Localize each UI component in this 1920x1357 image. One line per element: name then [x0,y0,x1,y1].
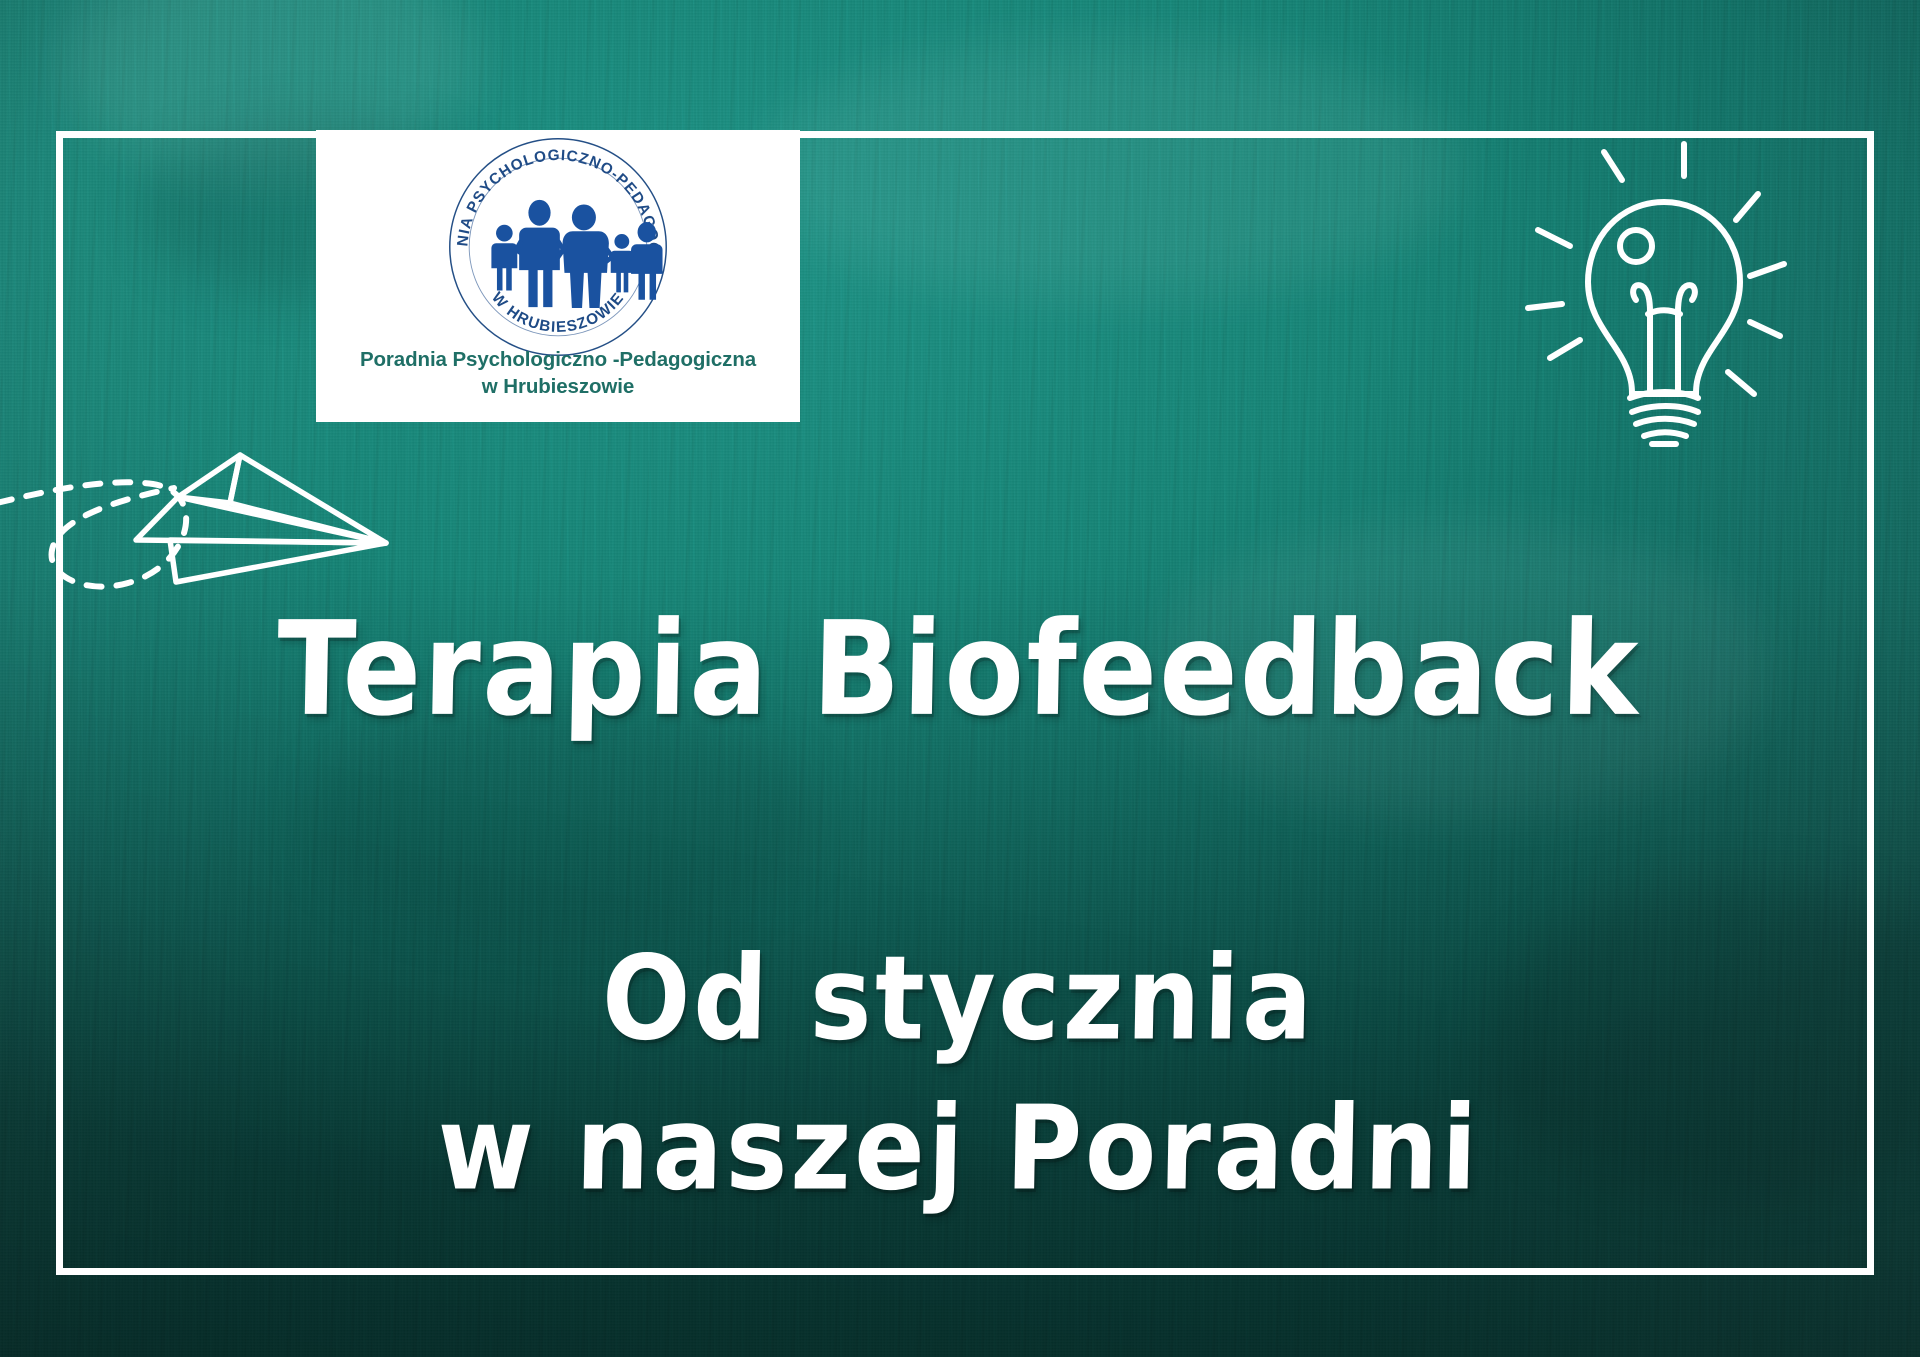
logo-caption-line-1: Poradnia Psychologiczno -Pedagogiczna [360,346,756,373]
poster-subtitle-line-1: Od stycznia [0,930,1920,1067]
logo-caption-line-2: w Hrubieszowie [360,373,756,400]
poster-subtitle-line-2: w naszej Poradni [0,1080,1920,1217]
poster-canvas: PORADNIA PSYCHOLOGICZNO-PEDAGOGICZNA W H… [0,0,1920,1357]
paper-plane-icon [0,440,408,620]
organization-logo-card: PORADNIA PSYCHOLOGICZNO-PEDAGOGICZNA W H… [316,130,800,422]
poster-headline: Terapia Biofeedback [0,594,1920,745]
organization-emblem-icon: PORADNIA PSYCHOLOGICZNO-PEDAGOGICZNA W H… [447,136,669,358]
organization-logo-caption: Poradnia Psychologiczno -Pedagogiczna w … [360,346,756,400]
lightbulb-icon [1508,132,1820,456]
